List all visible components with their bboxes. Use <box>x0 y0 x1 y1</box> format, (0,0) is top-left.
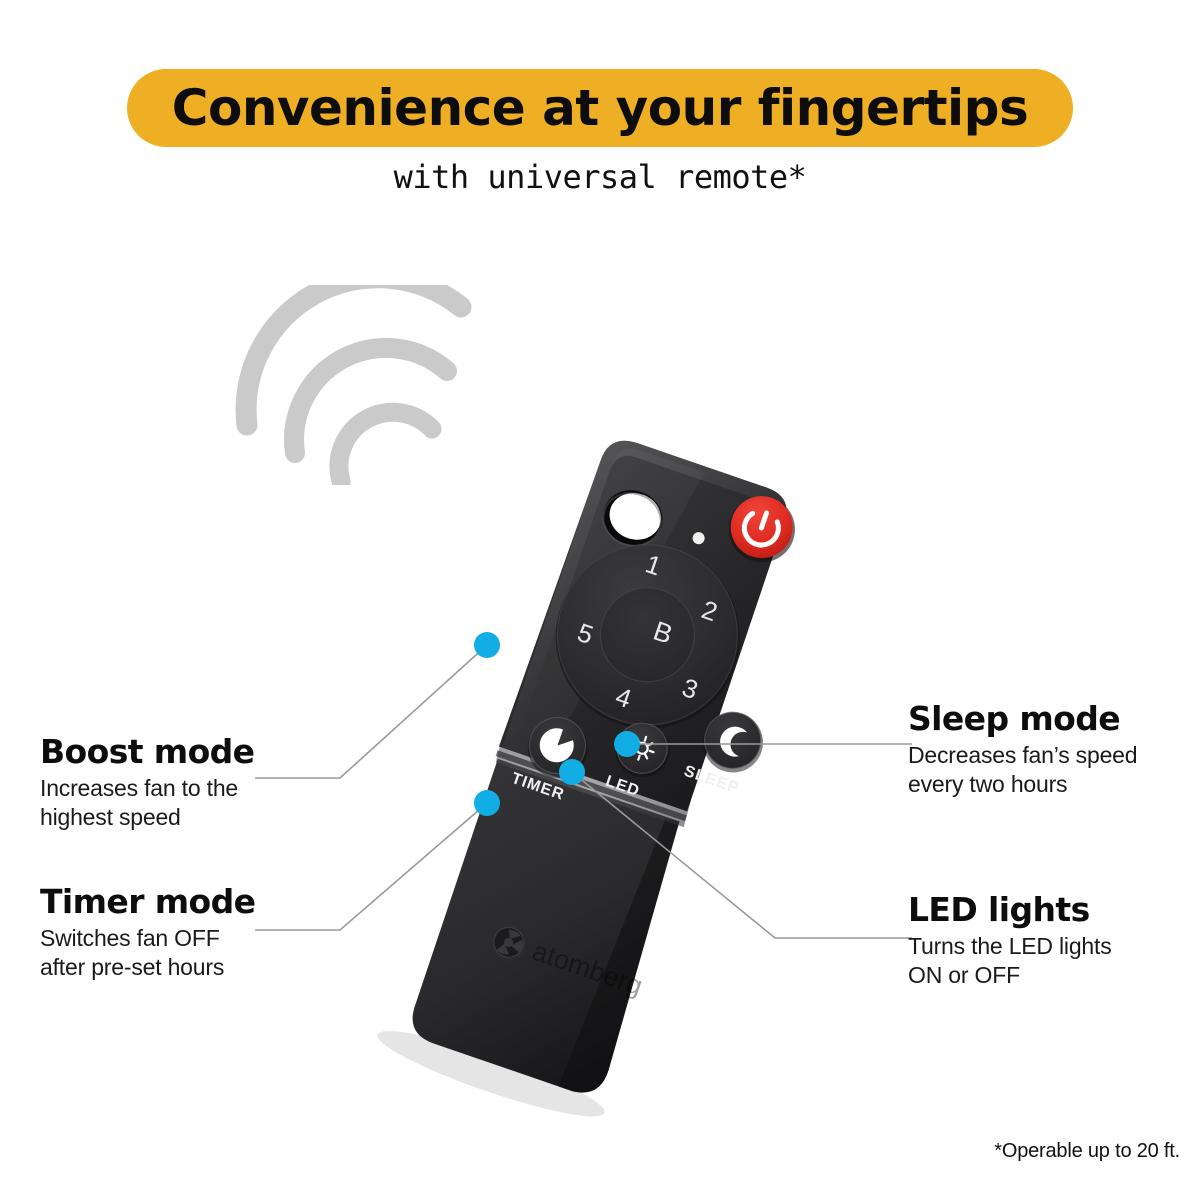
callout-led-title: LED lights <box>908 893 1198 928</box>
callout-boost: Boost mode Increases fan to the highest … <box>40 735 370 833</box>
callout-sleep-desc-line1: Decreases fan’s speed <box>908 741 1198 770</box>
callout-timer: Timer mode Switches fan OFF after pre-se… <box>40 885 370 983</box>
callout-led: LED lights Turns the LED lights ON or OF… <box>908 893 1198 991</box>
remote-control-image: 1 2 3 4 5 B <box>330 430 850 1130</box>
callout-boost-desc-line2: highest speed <box>40 803 370 832</box>
callout-sleep: Sleep mode Decreases fan’s speed every t… <box>908 702 1198 800</box>
callout-led-desc-line1: Turns the LED lights <box>908 932 1198 961</box>
callout-sleep-title: Sleep mode <box>908 702 1198 737</box>
callout-boost-desc-line1: Increases fan to the <box>40 774 370 803</box>
headline-badge: Convenience at your fingertips <box>127 69 1073 147</box>
footnote: *Operable up to 20 ft. <box>994 1140 1180 1163</box>
callout-led-desc-line2: ON or OFF <box>908 961 1198 990</box>
page-title: Convenience at your fingertips <box>172 83 1028 133</box>
callout-boost-desc: Increases fan to the highest speed <box>40 774 370 833</box>
callout-sleep-desc-line2: every two hours <box>908 770 1198 799</box>
callout-boost-title: Boost mode <box>40 735 370 770</box>
callout-timer-title: Timer mode <box>40 885 370 920</box>
callout-led-desc: Turns the LED lights ON or OFF <box>908 932 1198 991</box>
callout-sleep-desc: Decreases fan’s speed every two hours <box>908 741 1198 800</box>
subtitle: with universal remote* <box>0 158 1200 196</box>
infographic-canvas: Convenience at your fingertips with univ… <box>0 0 1200 1200</box>
callout-timer-desc: Switches fan OFF after pre-set hours <box>40 924 370 983</box>
callout-timer-desc-line2: after pre-set hours <box>40 953 370 982</box>
callout-timer-desc-line1: Switches fan OFF <box>40 924 370 953</box>
